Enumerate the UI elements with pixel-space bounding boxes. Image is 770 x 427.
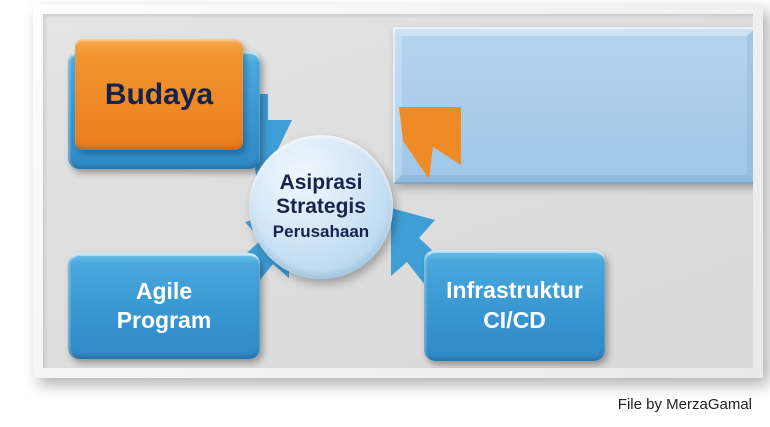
- slide-frame: Budaya sebagai landasan keberhasilan Tra…: [33, 4, 763, 378]
- budaya-callout-box[interactable]: Budaya: [75, 39, 243, 150]
- budaya-callout-tail-icon: [399, 107, 479, 184]
- attribution-caption: File by MerzaGamal: [0, 396, 752, 413]
- slide-surface: Budaya sebagai landasan keberhasilan Tra…: [43, 14, 753, 368]
- center-node-line-1: Asiprasi: [280, 171, 363, 196]
- center-node-aspirasi-strategis[interactable]: Asiprasi Strategis Perusahaan: [249, 135, 393, 279]
- diagram-canvas: Budaya sebagai landasan keberhasilan Tra…: [0, 0, 770, 427]
- node-infrastruktur-cicd-label: Infrastruktur CI/CD: [438, 276, 591, 335]
- budaya-callout-label: Budaya: [105, 78, 213, 112]
- node-infrastruktur-cicd[interactable]: Infrastruktur CI/CD: [424, 250, 605, 361]
- center-node-line-2: Strategis: [276, 195, 366, 220]
- node-agile-program-label: Agile Program: [109, 277, 220, 336]
- center-node-line-3: Perusahaan: [273, 221, 369, 243]
- node-agile-program[interactable]: Agile Program: [68, 253, 260, 359]
